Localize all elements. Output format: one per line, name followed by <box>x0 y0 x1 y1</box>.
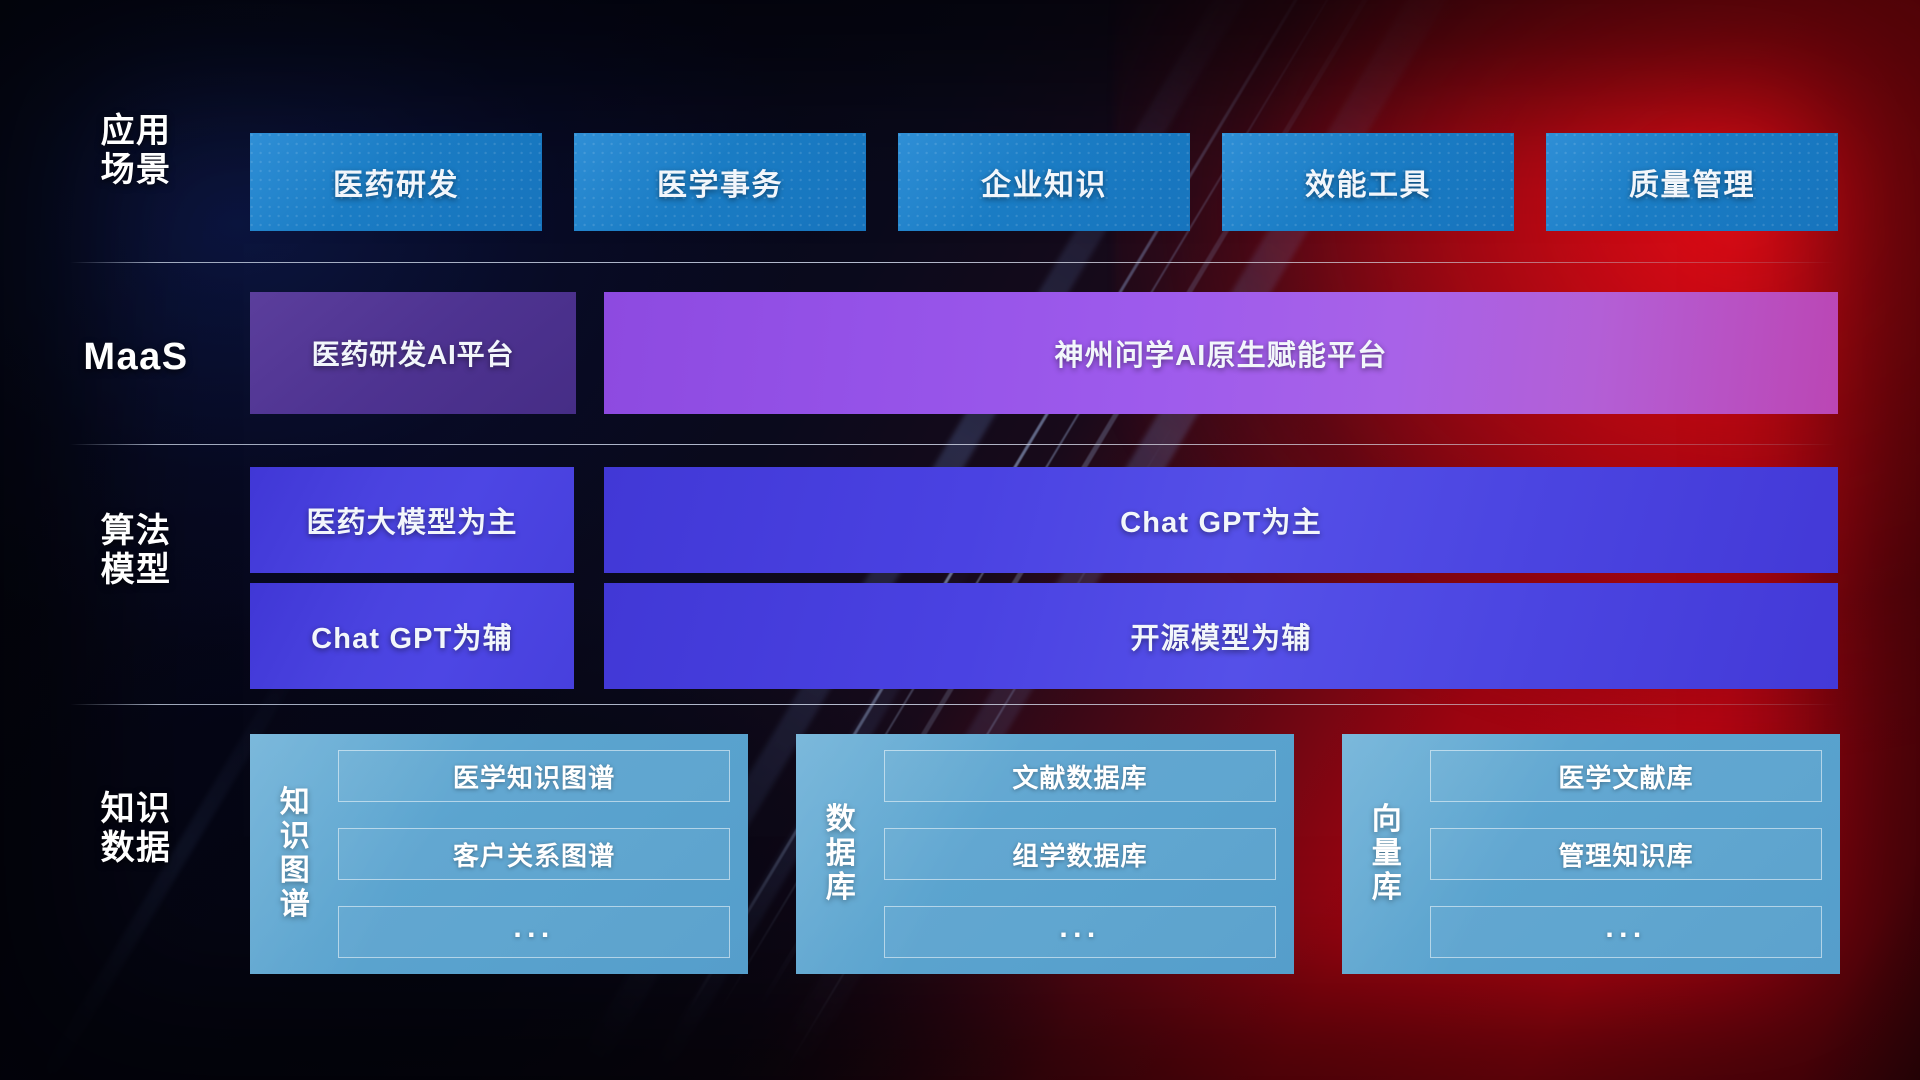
app-box-label: 效能工具 <box>1305 160 1431 204</box>
knowledge-item[interactable]: 文献数据库 <box>884 750 1276 802</box>
knowledge-item[interactable]: 组学数据库 <box>884 828 1276 880</box>
app-box-medical-affairs[interactable]: 医学事务 <box>574 133 866 231</box>
knowledge-item[interactable]: 客户关系图谱 <box>338 828 730 880</box>
algo-box-label: 医药大模型为主 <box>306 499 517 541</box>
knowledge-group-vertical-label: 知识图谱 <box>266 786 324 923</box>
knowledge-group-vertical-label: 数据库 <box>812 803 870 906</box>
maas-box-label: 医药研发AI平台 <box>312 333 515 373</box>
tier-label-knowledge-data: 知识 数据 <box>70 790 202 869</box>
tier-label-application-scenarios: 应用 场景 <box>70 112 202 191</box>
app-box-quality-management[interactable]: 质量管理 <box>1546 133 1838 231</box>
tier-label-line2: 数据 <box>70 829 202 868</box>
algo-box-medicine-llm-primary[interactable]: 医药大模型为主 <box>250 467 574 573</box>
divider-tier2-tier3 <box>70 444 1835 445</box>
knowledge-group-vertical-label: 向量库 <box>1358 803 1416 906</box>
tier-label-maas: MaaS <box>70 335 202 379</box>
app-box-label: 企业知识 <box>981 160 1107 204</box>
knowledge-item[interactable]: 管理知识库 <box>1430 828 1822 880</box>
knowledge-group-items: 医学知识图谱 客户关系图谱 ... <box>338 750 730 958</box>
knowledge-item-more[interactable]: ... <box>1430 906 1822 958</box>
knowledge-group-items: 医学文献库 管理知识库 ... <box>1430 750 1822 958</box>
app-box-label: 医药研发 <box>333 160 459 204</box>
tier-label-line1: 应用 <box>70 112 202 151</box>
divider-tier3-tier4 <box>70 704 1835 705</box>
tier-label-line1: 算法 <box>70 512 202 551</box>
tier-label-line2: 模型 <box>70 551 202 590</box>
app-box-efficiency-tools[interactable]: 效能工具 <box>1222 133 1514 231</box>
algo-box-label: Chat GPT为主 <box>1120 499 1322 541</box>
architecture-diagram: 应用 场景 医药研发 医学事务 企业知识 效能工具 质量管理 MaaS 医药研发… <box>0 0 1920 1080</box>
knowledge-group-knowledge-graph[interactable]: 知识图谱 医学知识图谱 客户关系图谱 ... <box>250 734 748 974</box>
app-box-enterprise-knowledge[interactable]: 企业知识 <box>898 133 1190 231</box>
divider-tier1-tier2 <box>70 262 1835 263</box>
algo-box-label: Chat GPT为辅 <box>311 615 513 657</box>
knowledge-group-items: 文献数据库 组学数据库 ... <box>884 750 1276 958</box>
knowledge-item-more[interactable]: ... <box>338 906 730 958</box>
knowledge-item[interactable]: 医学文献库 <box>1430 750 1822 802</box>
knowledge-group-database[interactable]: 数据库 文献数据库 组学数据库 ... <box>796 734 1294 974</box>
app-box-label: 医学事务 <box>657 160 783 204</box>
maas-box-medicine-ai-platform[interactable]: 医药研发AI平台 <box>250 292 576 414</box>
algo-box-opensource-secondary[interactable]: 开源模型为辅 <box>604 583 1838 689</box>
knowledge-item[interactable]: 医学知识图谱 <box>338 750 730 802</box>
knowledge-group-vector-store[interactable]: 向量库 医学文献库 管理知识库 ... <box>1342 734 1840 974</box>
algo-box-chatgpt-secondary[interactable]: Chat GPT为辅 <box>250 583 574 689</box>
tier-label-line2: 场景 <box>70 151 202 190</box>
knowledge-item-more[interactable]: ... <box>884 906 1276 958</box>
algo-box-label: 开源模型为辅 <box>1131 615 1312 657</box>
tier-label-algorithm-models: 算法 模型 <box>70 512 202 591</box>
algo-box-chatgpt-primary[interactable]: Chat GPT为主 <box>604 467 1838 573</box>
tier-label-line1: 知识 <box>70 790 202 829</box>
maas-box-shenzhou-ai-platform[interactable]: 神州问学AI原生赋能平台 <box>604 292 1838 414</box>
maas-box-label: 神州问学AI原生赋能平台 <box>1055 332 1388 374</box>
app-box-label: 质量管理 <box>1629 160 1755 204</box>
tier-label-line1: MaaS <box>70 335 202 379</box>
app-box-medicine-rd[interactable]: 医药研发 <box>250 133 542 231</box>
